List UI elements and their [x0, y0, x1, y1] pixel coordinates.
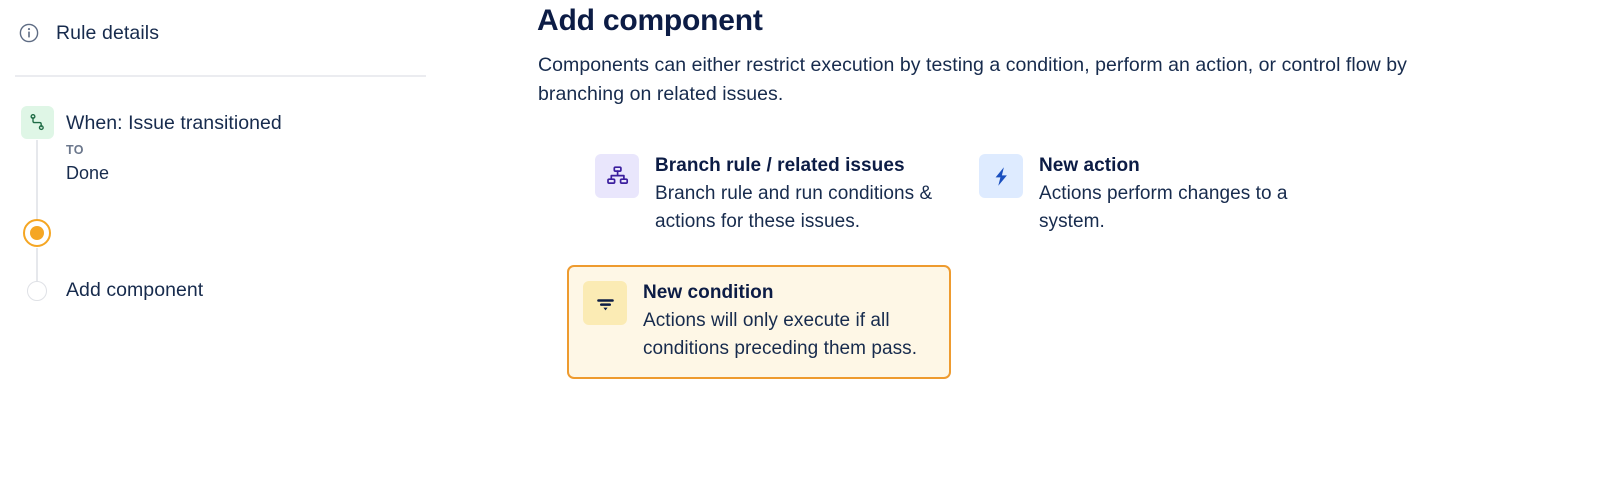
component-card-text: New condition Actions will only execute …	[643, 279, 923, 363]
trigger-title: When: Issue transitioned	[66, 110, 426, 136]
selected-step-node-dot	[30, 226, 44, 240]
component-card-new-condition[interactable]: New condition Actions will only execute …	[567, 265, 951, 379]
selected-step-node[interactable]	[23, 219, 51, 247]
trigger-step[interactable]: When: Issue transitioned TO Done	[66, 110, 426, 185]
page-description: Components can either restrict execution…	[538, 51, 1468, 109]
rule-builder-sidebar: Rule details When: Issue transitioned TO…	[0, 0, 470, 499]
filter-funnel-icon	[583, 281, 627, 325]
component-card-description: Branch rule and run conditions & actions…	[655, 180, 943, 236]
component-card-text: New action Actions perform changes to a …	[1039, 152, 1329, 236]
info-circle-icon	[18, 22, 40, 44]
trigger-field-value: Done	[66, 161, 426, 185]
page-title: Add component	[537, 2, 763, 40]
lightning-bolt-icon	[979, 154, 1023, 198]
sidebar-divider	[15, 75, 426, 77]
component-card-text: Branch rule / related issues Branch rule…	[655, 152, 943, 236]
component-card-description: Actions will only execute if all conditi…	[643, 307, 923, 363]
timeline-connector-lower	[36, 248, 38, 282]
component-card-title: Branch rule / related issues	[655, 153, 943, 179]
component-card-description: Actions perform changes to a system.	[1039, 180, 1329, 236]
trigger-field-label: TO	[66, 142, 426, 158]
component-card-title: New condition	[643, 280, 923, 306]
rule-details-label: Rule details	[56, 22, 159, 44]
trigger-branch-path-icon	[21, 106, 54, 139]
sidebar-item-add-component[interactable]: Add component	[66, 277, 203, 303]
component-card-new-action[interactable]: New action Actions perform changes to a …	[965, 140, 1341, 248]
component-card-title: New action	[1039, 153, 1329, 179]
timeline-connector-upper	[36, 140, 38, 220]
component-card-branch-rule[interactable]: Branch rule / related issues Branch rule…	[581, 140, 947, 248]
sidebar-item-rule-details[interactable]: Rule details	[18, 22, 159, 44]
org-chart-branch-icon	[595, 154, 639, 198]
empty-step-node[interactable]	[27, 281, 47, 301]
